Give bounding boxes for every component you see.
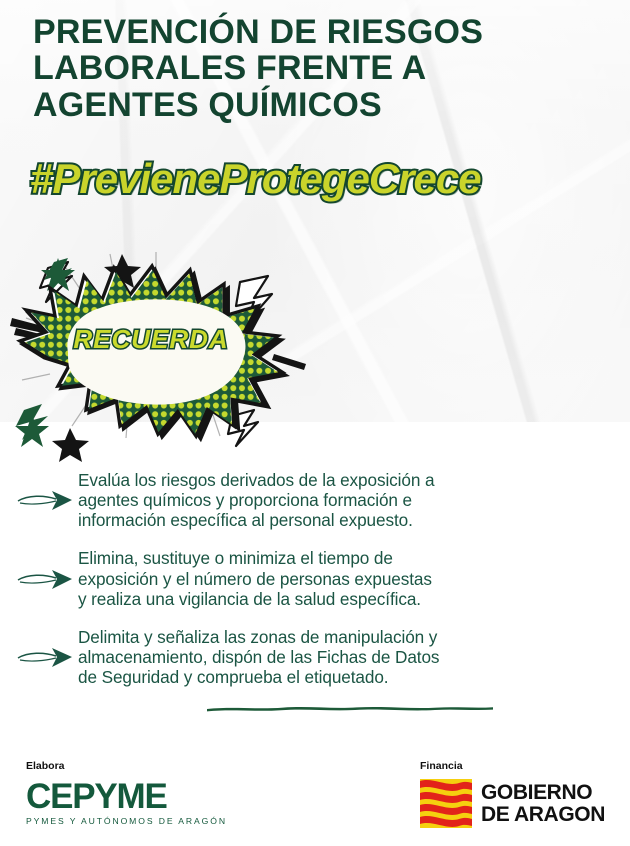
cepyme-tagline: PYMES Y AUTÓNOMOS DE ARAGÓN [26,816,227,826]
financia-block: Financia GOBIERNO DE ARAGON [420,760,605,828]
cepyme-wordmark: CEPYME [26,779,227,814]
gobierno-aragon-logo: GOBIERNO DE ARAGON [420,779,605,828]
comic-burst: RECUERDA [6,240,316,450]
bullet-list: Evalúa los riesgos derivados de la expos… [0,470,630,705]
arrow-right-icon [0,566,78,592]
campaign-hashtag: #PrevieneProtegeCrece [30,155,481,203]
arrow-right-icon [0,487,78,513]
list-item-text: Delimita y señaliza las zonas de manipul… [78,627,439,687]
arrow-right-icon [0,644,78,670]
list-item-text: Elimina, sustituye o minimiza el tiempo … [78,548,432,608]
cepyme-logo: CEPYME PYMES Y AUTÓNOMOS DE ARAGÓN [26,779,227,826]
footer: Elabora CEPYME PYMES Y AUTÓNOMOS DE ARAG… [0,760,630,846]
page-title: PREVENCIÓN DE RIESGOS LABORALES FRENTE A… [33,14,593,123]
list-item: Evalúa los riesgos derivados de la expos… [0,470,630,530]
financia-label: Financia [420,760,605,772]
list-item-text: Evalúa los riesgos derivados de la expos… [78,470,434,530]
list-item: Delimita y señaliza las zonas de manipul… [0,627,630,687]
list-item: Elimina, sustituye o minimiza el tiempo … [0,548,630,608]
elabora-label: Elabora [26,760,227,772]
poster-root: PREVENCIÓN DE RIESGOS LABORALES FRENTE A… [0,0,630,846]
aragon-flag-icon [420,779,472,828]
elabora-block: Elabora CEPYME PYMES Y AUTÓNOMOS DE ARAG… [26,760,227,826]
divider [205,700,495,710]
burst-label: RECUERDA [6,324,296,355]
gobierno-wordmark: GOBIERNO DE ARAGON [481,782,605,825]
